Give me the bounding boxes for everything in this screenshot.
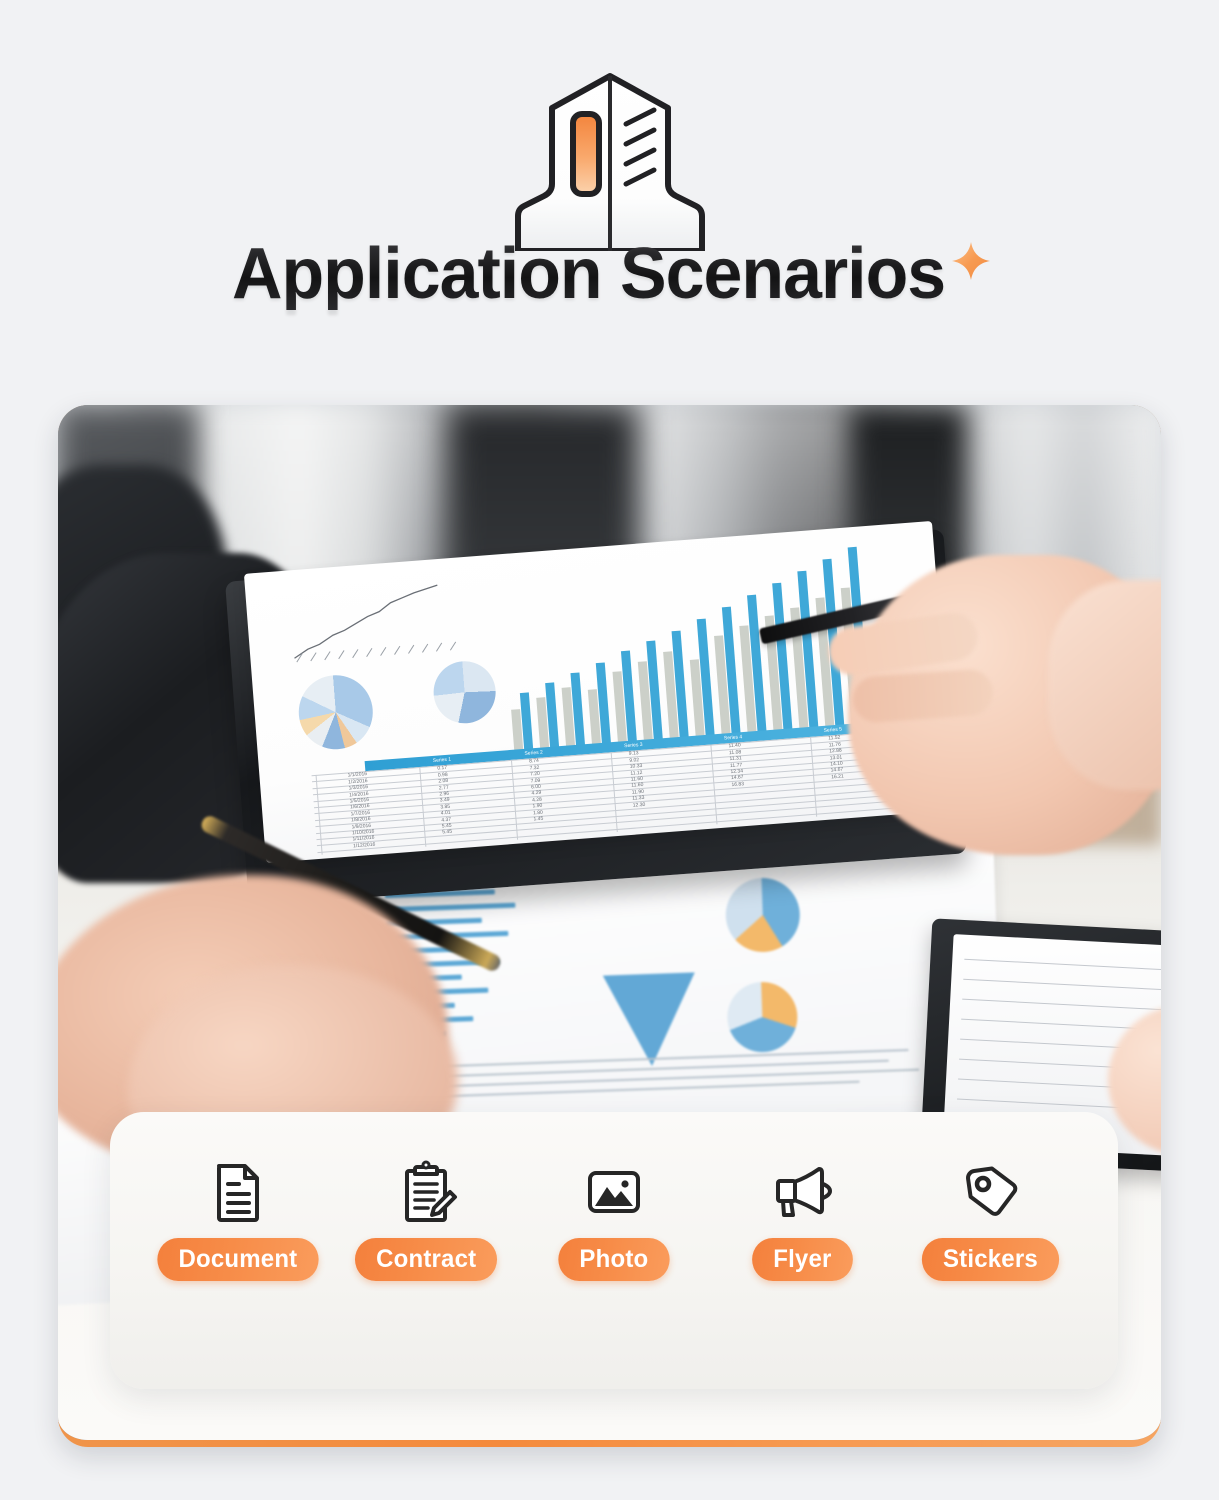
line-chart	[285, 577, 490, 666]
category-chip-flyer[interactable]: Flyer	[752, 1238, 853, 1281]
finger-lower	[852, 668, 995, 724]
wrist-right	[1048, 580, 1161, 790]
category-item-photo[interactable]: Photo	[526, 1160, 702, 1281]
megaphone-icon	[770, 1160, 834, 1224]
category-item-contract[interactable]: Contract	[338, 1160, 514, 1281]
category-item-flyer[interactable]: Flyer	[714, 1160, 890, 1281]
pie-chart-2	[431, 659, 498, 726]
category-chip-document[interactable]: Document	[157, 1238, 318, 1281]
page-title: Application Scenarios	[232, 238, 945, 310]
report-sheet: Series 1Series 2Series 3Series 4Series 5…	[244, 521, 954, 863]
category-chip-stickers[interactable]: Stickers	[921, 1238, 1058, 1281]
page-header: Application Scenarios	[0, 0, 1219, 392]
pie-chart-1	[296, 673, 375, 752]
sparkle-star-icon	[950, 240, 992, 282]
category-item-stickers[interactable]: Stickers	[902, 1160, 1078, 1281]
page-title-row: Application Scenarios	[0, 238, 1219, 310]
category-chip-photo[interactable]: Photo	[558, 1238, 669, 1281]
document-page-icon	[206, 1160, 270, 1224]
category-list: Document	[150, 1160, 1078, 1281]
category-chip-contract[interactable]: Contract	[355, 1238, 497, 1281]
cone-chart	[603, 972, 698, 1067]
clipboard-pencil-icon	[394, 1160, 458, 1224]
category-item-document[interactable]: Document	[150, 1160, 326, 1281]
scenario-category-card: Document	[110, 1112, 1118, 1389]
building-tower-icon	[500, 66, 720, 251]
image-picture-icon	[582, 1160, 646, 1224]
price-tag-icon	[958, 1160, 1022, 1224]
application-scenarios-page: Application Scenarios	[0, 0, 1219, 1500]
